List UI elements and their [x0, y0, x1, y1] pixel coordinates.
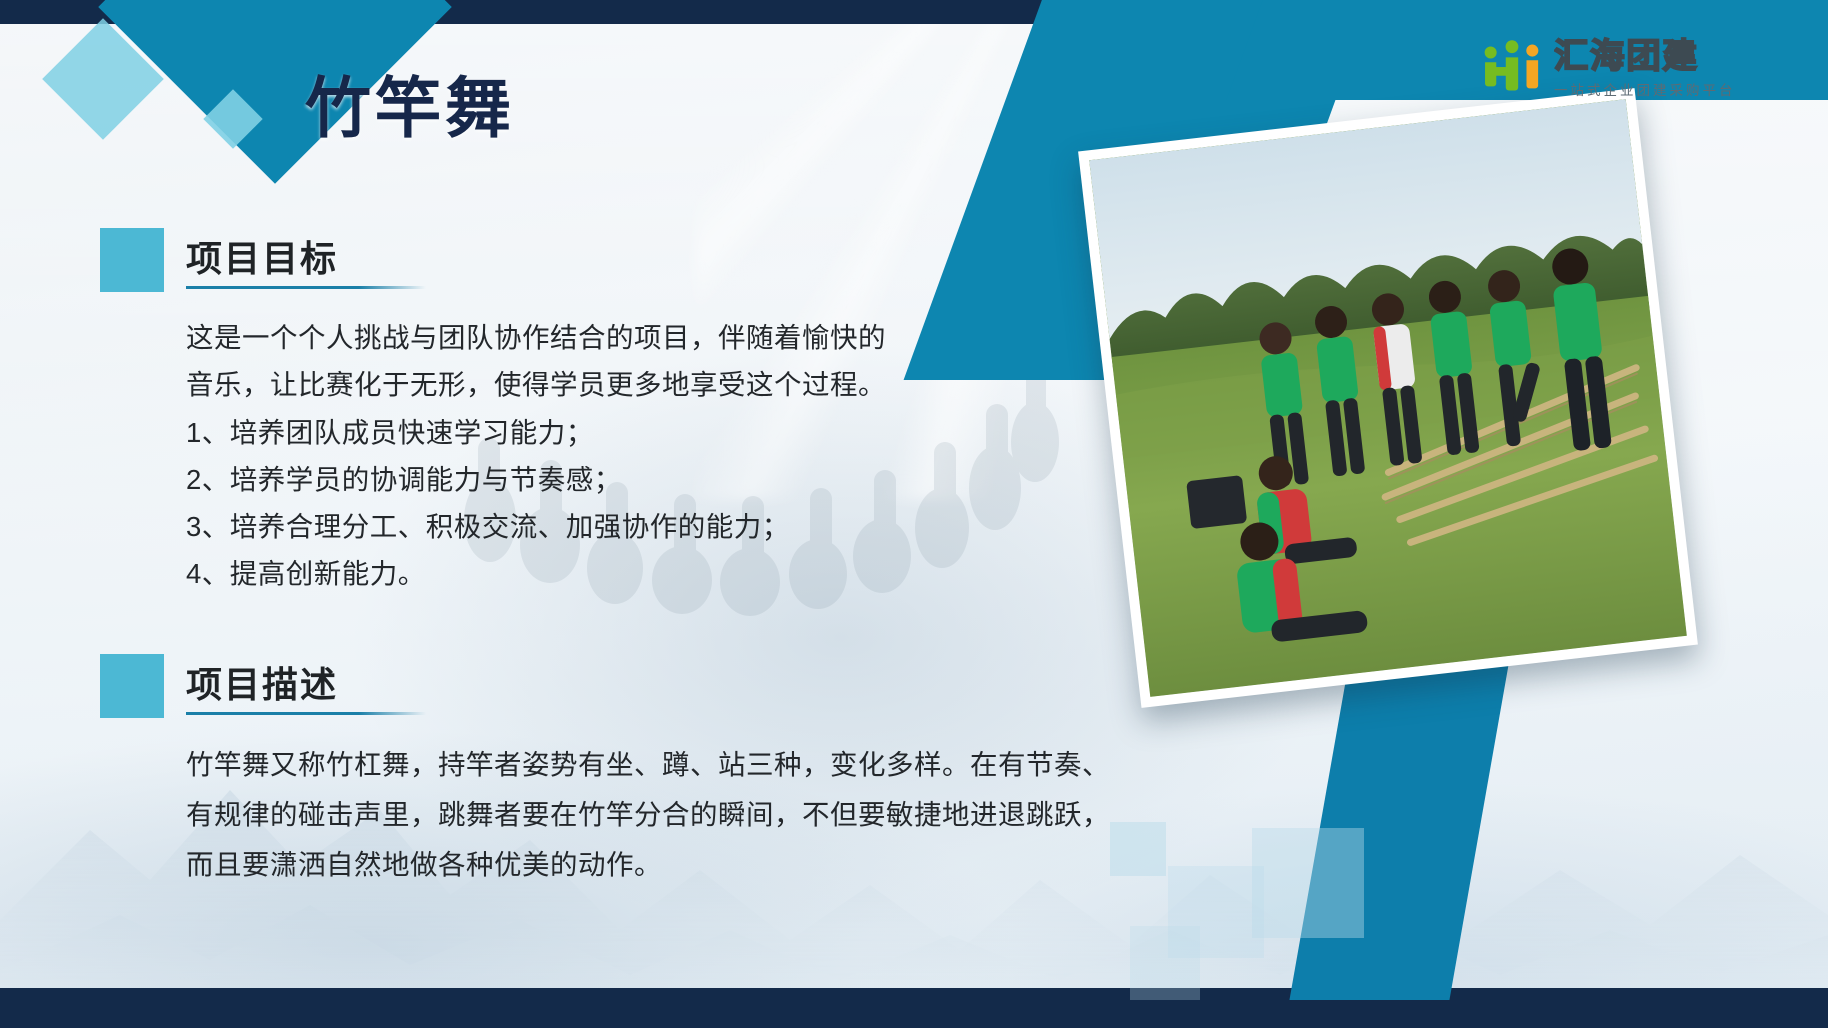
bamboo-pole-dance-photo	[1078, 88, 1698, 708]
square-decoration-1	[1110, 822, 1166, 876]
list-item: 1、培养团队成员快速学习能力；	[186, 409, 1110, 456]
photo-content	[1089, 99, 1687, 697]
brand-wordmark-icon: 汇海团建	[1554, 36, 1794, 76]
list-item: 2、培养学员的协调能力与节奏感；	[186, 456, 1110, 503]
list-item: 4、提高创新能力。	[186, 550, 1110, 597]
section-body: 竹竿舞又称竹杠舞，持竿者姿势有坐、蹲、站三种，变化多样。在有节奏、有规律的碰击声…	[100, 740, 1110, 890]
brand-logo: 汇海团建 一站式企业团建采购平台	[1480, 36, 1794, 99]
section-divider	[186, 286, 426, 289]
brand-tagline: 一站式企业团建采购平台	[1554, 79, 1736, 99]
section-marker-square-icon	[100, 228, 164, 292]
bottom-navy-bar	[0, 988, 1828, 1028]
section-header: 项目描述	[100, 654, 1110, 718]
presentation-slide: 竹竿舞 汇海团建 一站式企业团建采购平台 项目目标	[0, 0, 1828, 1028]
section-body: 这是一个个人挑战与团队协作结合的项目，伴随着愉快的音乐，让比赛化于无形，使得学员…	[100, 314, 1110, 598]
goal-list: 1、培养团队成员快速学习能力； 2、培养学员的协调能力与节奏感； 3、培养合理分…	[186, 409, 1110, 598]
hi-people-logo-icon	[1480, 37, 1542, 99]
list-item: 3、培养合理分工、积极交流、加强协作的能力；	[186, 503, 1110, 550]
section-paragraph: 竹竿舞又称竹杠舞，持竿者姿势有坐、蹲、站三种，变化多样。在有节奏、有规律的碰击声…	[186, 740, 1110, 890]
square-decoration-3	[1252, 828, 1364, 938]
section-header: 项目目标	[100, 228, 1110, 292]
page-title: 竹竿舞	[305, 55, 515, 151]
section-project-goal: 项目目标 这是一个个人挑战与团队协作结合的项目，伴随着愉快的音乐，让比赛化于无形…	[100, 228, 1110, 598]
square-decoration-4	[1130, 926, 1200, 1000]
section-marker-square-icon	[100, 654, 164, 718]
section-title: 项目描述	[186, 656, 338, 708]
content-column: 项目目标 这是一个个人挑战与团队协作结合的项目，伴随着愉快的音乐，让比赛化于无形…	[100, 228, 1110, 890]
section-divider	[186, 712, 426, 715]
svg-text:汇海团建: 汇海团建	[1554, 37, 1699, 75]
section-project-description: 项目描述 竹竿舞又称竹杠舞，持竿者姿势有坐、蹲、站三种，变化多样。在有节奏、有规…	[100, 654, 1110, 890]
section-paragraph: 这是一个个人挑战与团队协作结合的项目，伴随着愉快的音乐，让比赛化于无形，使得学员…	[186, 314, 886, 409]
section-title: 项目目标	[186, 230, 338, 282]
